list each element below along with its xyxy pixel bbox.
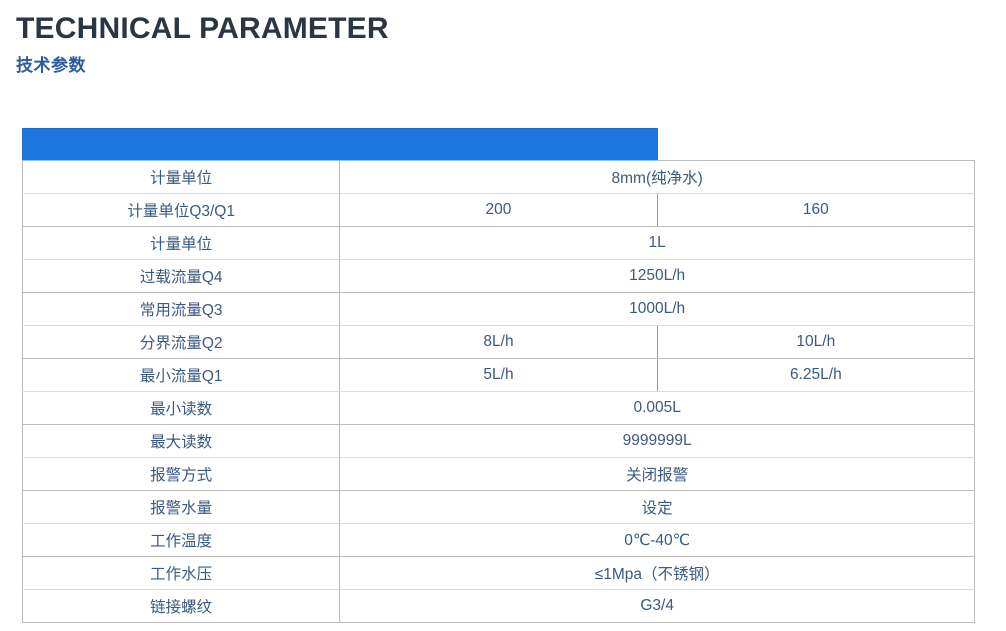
table-row: 工作水压≤1Mpa（不锈钢） [23,557,975,590]
parameter-value: 8mm(纯净水) [340,161,975,194]
table-head [23,129,975,161]
technical-parameter-table: 计量单位8mm(纯净水)计量单位Q3/Q1200160计量单位1L过载流量Q41… [22,128,975,623]
parameter-value-left: 8L/h [340,326,657,359]
parameter-value: ≤1Mpa（不锈钢） [340,557,975,590]
parameter-value: 设定 [340,491,975,524]
parameter-label: 报警水量 [23,491,340,524]
parameter-label: 最小读数 [23,392,340,425]
parameter-label: 分界流量Q2 [23,326,340,359]
page-title: TECHNICAL PARAMETER [16,12,1006,45]
parameter-label: 工作温度 [23,524,340,557]
parameter-label: 计量单位 [23,161,340,194]
parameter-value-left: 5L/h [340,359,657,392]
table-row: 最小流量Q15L/h6.25L/h [23,359,975,392]
spec-table-container: 计量单位8mm(纯净水)计量单位Q3/Q1200160计量单位1L过载流量Q41… [22,128,975,623]
parameter-label: 工作水压 [23,557,340,590]
parameter-label: 最大读数 [23,425,340,458]
parameter-value-right: 6.25L/h [657,359,974,392]
table-row: 报警水量设定 [23,491,975,524]
table-row: 链接螺纹G3/4 [23,590,975,623]
table-row: 报警方式关闭报警 [23,458,975,491]
table-row: 计量单位8mm(纯净水) [23,161,975,194]
parameter-value-left: 200 [340,194,657,227]
table-header-row [23,129,975,161]
parameter-label: 链接螺纹 [23,590,340,623]
parameter-label: 过载流量Q4 [23,260,340,293]
parameter-label: 计量单位 [23,227,340,260]
heading-block: TECHNICAL PARAMETER 技术参数 [0,0,1006,76]
table-header-band [23,129,658,161]
parameter-value: 1L [340,227,975,260]
parameter-label: 最小流量Q1 [23,359,340,392]
table-row: 过载流量Q41250L/h [23,260,975,293]
parameter-label: 计量单位Q3/Q1 [23,194,340,227]
page-subtitle: 技术参数 [16,57,1006,76]
table-row: 分界流量Q28L/h10L/h [23,326,975,359]
parameter-value: 关闭报警 [340,458,975,491]
parameter-label: 常用流量Q3 [23,293,340,326]
parameter-value: G3/4 [340,590,975,623]
parameter-value: 1250L/h [340,260,975,293]
table-row: 最大读数9999999L [23,425,975,458]
table-body: 计量单位8mm(纯净水)计量单位Q3/Q1200160计量单位1L过载流量Q41… [23,161,975,623]
table-row: 计量单位1L [23,227,975,260]
table-row: 工作温度0℃-40℃ [23,524,975,557]
parameter-value-right: 160 [657,194,974,227]
parameter-value: 9999999L [340,425,975,458]
parameter-value: 0℃-40℃ [340,524,975,557]
parameter-value-right: 10L/h [657,326,974,359]
parameter-value: 0.005L [340,392,975,425]
table-row: 计量单位Q3/Q1200160 [23,194,975,227]
table-row: 常用流量Q31000L/h [23,293,975,326]
table-row: 最小读数0.005L [23,392,975,425]
technical-parameter-page: TECHNICAL PARAMETER 技术参数 计量单位8mm(纯净水)计量单… [0,0,1006,631]
parameter-value: 1000L/h [340,293,975,326]
parameter-label: 报警方式 [23,458,340,491]
